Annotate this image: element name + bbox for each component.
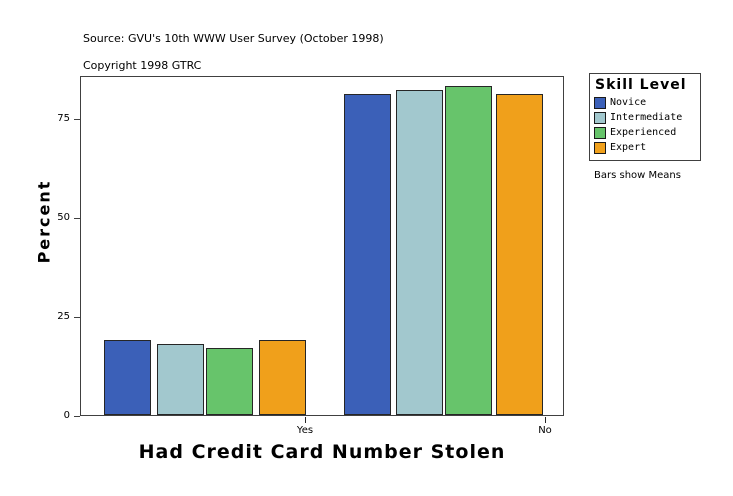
- legend-label-intermediate: Intermediate: [610, 112, 682, 124]
- x-tick-mark-yes: [305, 417, 306, 423]
- legend-swatch-experienced-icon: [594, 127, 606, 139]
- legend-swatch-novice-icon: [594, 97, 606, 109]
- y-tick-mark-0: [74, 416, 80, 417]
- y-tick-label-25: 25: [38, 311, 70, 322]
- x-tick-label-no: No: [505, 425, 585, 436]
- legend-item-intermediate[interactable]: Intermediate: [594, 111, 696, 125]
- bar-expert-yes: [259, 340, 306, 415]
- x-tick-mark-no: [545, 417, 546, 423]
- y-tick-label-0: 0: [38, 410, 70, 421]
- legend-entries: NoviceIntermediateExperiencedExpert: [594, 96, 696, 155]
- legend-title: Skill Level: [595, 77, 696, 93]
- legend-swatch-expert-icon: [594, 142, 606, 154]
- bar-novice-yes: [104, 340, 151, 415]
- chart-root: Source: GVU's 10th WWW User Survey (Octo…: [0, 0, 733, 496]
- legend-item-experienced[interactable]: Experienced: [594, 126, 696, 140]
- bar-experienced-no: [445, 86, 492, 415]
- bars-layer: [81, 77, 563, 415]
- x-tick-label-yes: Yes: [265, 425, 345, 436]
- y-tick-label-50: 50: [38, 212, 70, 223]
- bar-novice-no: [344, 94, 391, 415]
- x-axis-title: Had Credit Card Number Stolen: [80, 441, 564, 463]
- bars-show-means-note: Bars show Means: [594, 170, 681, 181]
- legend-label-experienced: Experienced: [610, 127, 676, 139]
- bar-intermediate-yes: [157, 344, 204, 415]
- bar-expert-no: [496, 94, 543, 415]
- plot-area: [80, 76, 564, 416]
- legend-item-novice[interactable]: Novice: [594, 96, 696, 110]
- source-note: Source: GVU's 10th WWW User Survey (Octo…: [83, 32, 384, 45]
- legend-label-expert: Expert: [610, 142, 646, 154]
- bar-intermediate-no: [396, 90, 443, 415]
- legend-swatch-intermediate-icon: [594, 112, 606, 124]
- bar-experienced-yes: [206, 348, 253, 415]
- legend-item-expert[interactable]: Expert: [594, 141, 696, 155]
- legend: Skill Level NoviceIntermediateExperience…: [589, 73, 701, 161]
- y-axis: Percent 0255075: [0, 0, 80, 496]
- y-tick-label-75: 75: [38, 113, 70, 124]
- copyright-note: Copyright 1998 GTRC: [83, 59, 201, 72]
- legend-label-novice: Novice: [610, 97, 646, 109]
